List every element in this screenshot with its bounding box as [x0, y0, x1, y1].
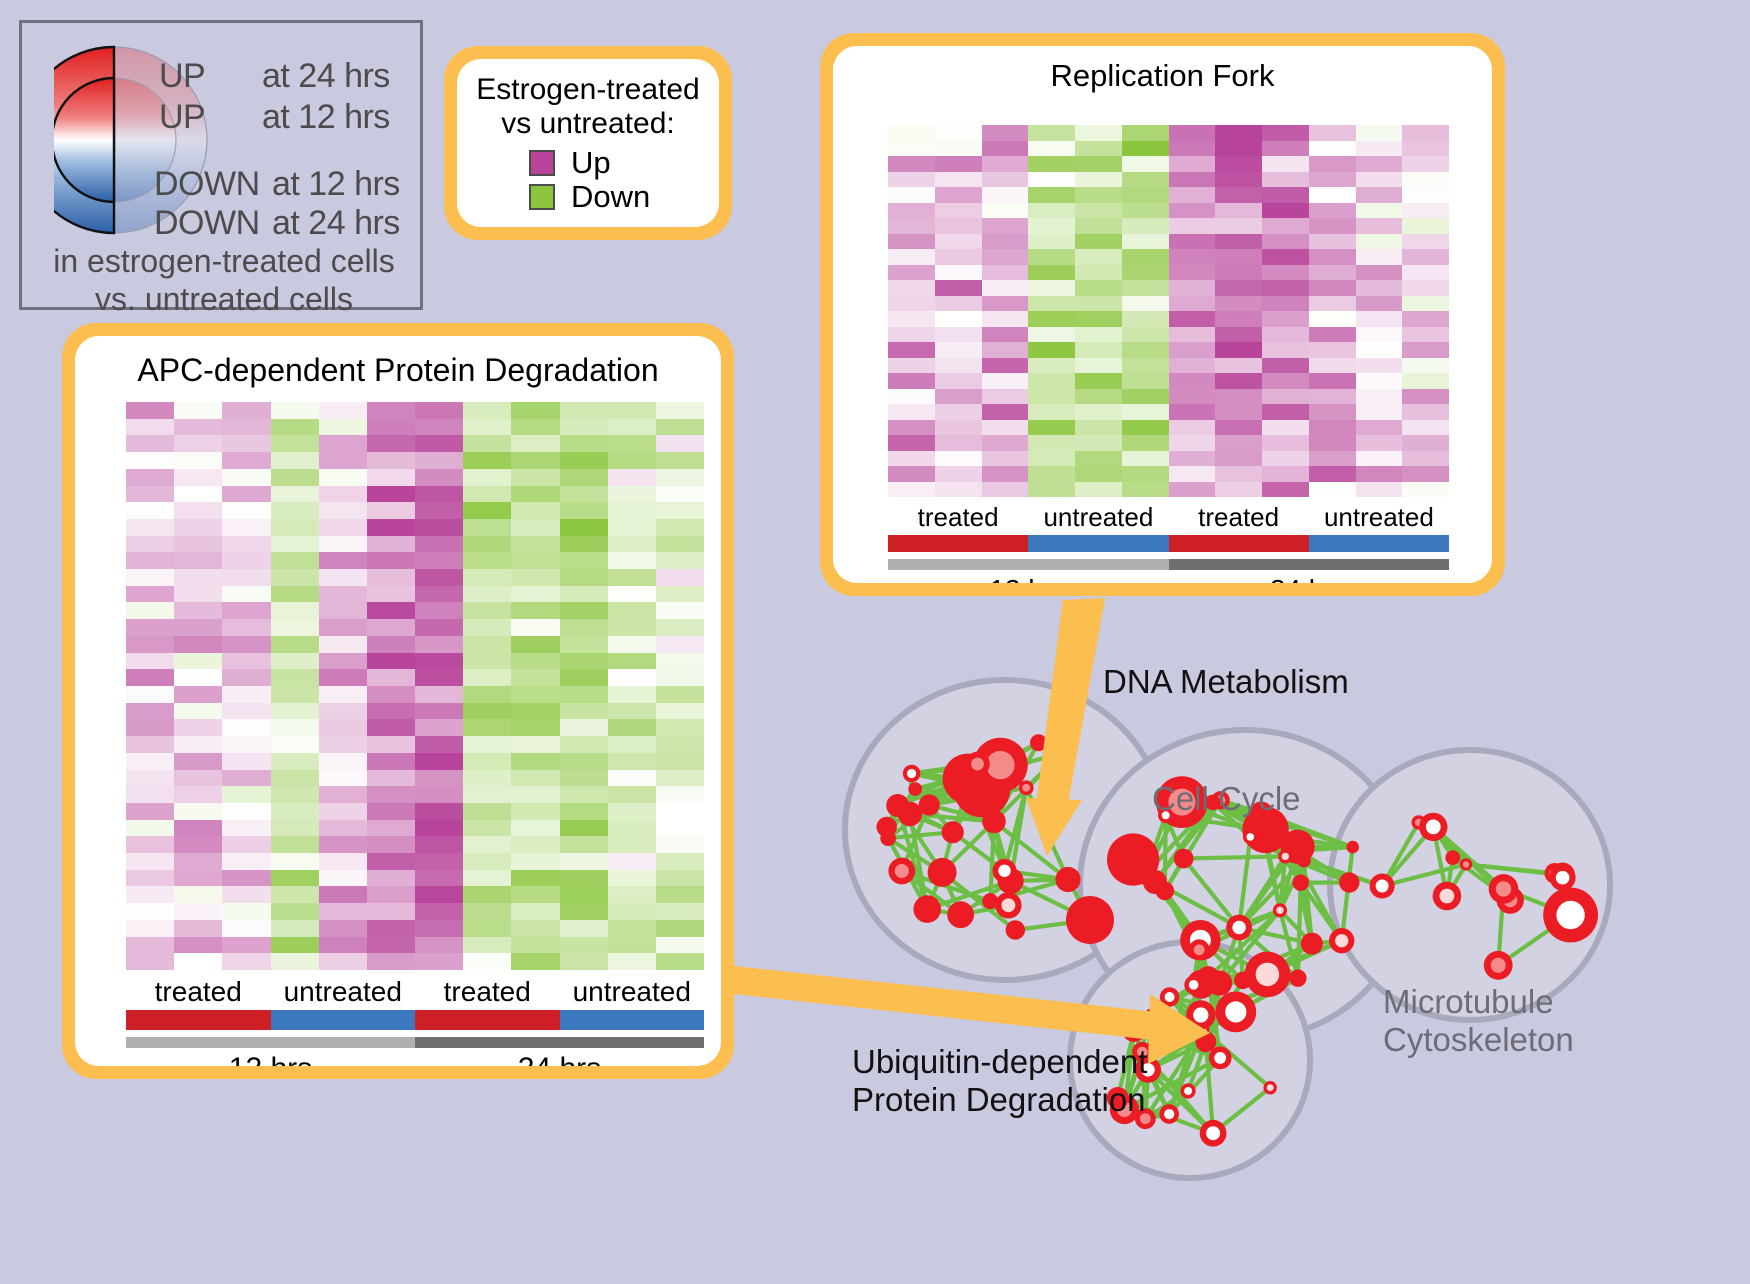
- heatmap-cell: [1356, 389, 1403, 405]
- heatmap-cell: [511, 736, 559, 753]
- heatmap-cell: [1028, 466, 1075, 482]
- heatmap-cell: [271, 853, 319, 870]
- heatmap-cell: [1028, 141, 1075, 157]
- heatmap-cell: [560, 937, 608, 954]
- heatmap-cell: [560, 653, 608, 670]
- heatmap-cell: [511, 486, 559, 503]
- heatmap-cell: [126, 569, 174, 586]
- network-node: [1289, 970, 1306, 987]
- heatmap-cell: [1075, 125, 1122, 141]
- heatmap-cell: [174, 569, 222, 586]
- heatmap-cell: [1122, 234, 1169, 250]
- heatmap-cell: [935, 172, 982, 188]
- heatmap-cell: [463, 569, 511, 586]
- heatmap-cell: [222, 552, 270, 569]
- heatmap-cell: [463, 903, 511, 920]
- heatmap-cell: [319, 469, 367, 486]
- network-node: [1339, 872, 1359, 892]
- heatmap-cell: [608, 937, 656, 954]
- heatmap-cell: [271, 953, 319, 970]
- heatmap-cell: [126, 586, 174, 603]
- heatmap-cell: [415, 536, 463, 553]
- heatmap-cell: [271, 619, 319, 636]
- heatmap-cell: [982, 234, 1029, 250]
- heatmap-cell: [126, 486, 174, 503]
- heatmap-cell: [174, 419, 222, 436]
- heatmap-cell: [1262, 156, 1309, 172]
- heatmap-cell: [415, 452, 463, 469]
- heatmap-cell: [1028, 265, 1075, 281]
- heatmap-cell: [1169, 280, 1216, 296]
- heatmap-cell: [560, 903, 608, 920]
- heatmap-cell: [1309, 156, 1356, 172]
- colorwheel-row-0-state: UP: [159, 57, 205, 96]
- heatmap-cell: [1169, 327, 1216, 343]
- heatmap-cell: [126, 619, 174, 636]
- heatmap-cell: [174, 719, 222, 736]
- heatmap-cell: [888, 482, 935, 498]
- network-node: [1207, 971, 1232, 996]
- rf-time-bars: [888, 559, 1449, 570]
- heatmap-cell: [1402, 404, 1449, 420]
- heatmap-cell: [1402, 296, 1449, 312]
- network-node-core: [1189, 980, 1199, 990]
- heatmap-cell: [1215, 451, 1262, 467]
- legend-item-down-label: Down: [571, 181, 650, 212]
- heatmap-cell: [319, 602, 367, 619]
- heatmap-cell: [656, 486, 704, 503]
- heatmap-cell: [126, 920, 174, 937]
- heatmap-cell: [126, 937, 174, 954]
- heatmap-cell: [174, 953, 222, 970]
- heatmap-cell: [935, 420, 982, 436]
- heatmap-cell: [174, 602, 222, 619]
- heatmap-cell: [1075, 466, 1122, 482]
- heatmap-cell: [319, 753, 367, 770]
- heatmap-cell: [1356, 234, 1403, 250]
- network-node-core: [1376, 880, 1389, 893]
- heatmap-cell: [1215, 187, 1262, 203]
- network-node-core: [1282, 853, 1289, 860]
- heatmap-cell: [656, 736, 704, 753]
- heatmap-cell: [560, 686, 608, 703]
- heatmap-cell: [222, 920, 270, 937]
- heatmap-cell: [463, 686, 511, 703]
- heatmap-cell: [174, 886, 222, 903]
- heatmap-cell: [935, 389, 982, 405]
- heatmap-cell: [1356, 358, 1403, 374]
- heatmap-cell: [888, 342, 935, 358]
- heatmap-cell: [174, 502, 222, 519]
- heatmap-cell: [1169, 451, 1216, 467]
- heatmap-cell: [1169, 125, 1216, 141]
- heatmap-cell: [1169, 389, 1216, 405]
- heatmap-cell: [415, 686, 463, 703]
- heatmap-cell: [271, 937, 319, 954]
- heatmap-cell: [367, 937, 415, 954]
- heatmap-cell: [415, 920, 463, 937]
- heatmap-cell: [1215, 265, 1262, 281]
- heatmap-cell: [367, 803, 415, 820]
- heatmap-cell: [319, 953, 367, 970]
- heatmap-cell: [511, 602, 559, 619]
- heatmap-cell: [608, 653, 656, 670]
- heatmap-cell: [367, 753, 415, 770]
- heatmap-cell: [656, 469, 704, 486]
- apc-time-label-12: 12 hrs: [126, 1052, 415, 1066]
- colorwheel-row-1-time: at 12 hrs: [262, 98, 390, 137]
- heatmap-cell: [1028, 327, 1075, 343]
- heatmap-cell: [656, 920, 704, 937]
- heatmap-cell: [1402, 435, 1449, 451]
- heatmap-cell: [608, 786, 656, 803]
- heatmap-cell: [1309, 311, 1356, 327]
- heatmap-cell: [1309, 203, 1356, 219]
- heatmap-cell: [888, 280, 935, 296]
- heatmap-cell: [174, 586, 222, 603]
- heatmap-cell: [1356, 218, 1403, 234]
- rf-timebar-12: [888, 559, 1169, 570]
- heatmap-cell: [271, 419, 319, 436]
- heatmap-cell: [415, 836, 463, 853]
- heatmap-cell: [560, 703, 608, 720]
- heatmap-cell: [608, 536, 656, 553]
- heatmap-cell: [982, 311, 1029, 327]
- heatmap-cell: [511, 402, 559, 419]
- heatmap-cell: [1122, 156, 1169, 172]
- heatmap-cell: [560, 820, 608, 837]
- heatmap-cell: [319, 803, 367, 820]
- heatmap-cell: [222, 469, 270, 486]
- heatmap-cell: [126, 519, 174, 536]
- heatmap-cell: [608, 469, 656, 486]
- heatmap-cell: [1215, 342, 1262, 358]
- heatmap-cell: [126, 753, 174, 770]
- heatmap-cell: [608, 552, 656, 569]
- heatmap-cell: [1169, 234, 1216, 250]
- colorwheel-note-line2: vs. untreated cells: [22, 281, 426, 319]
- heatmap-cell: [415, 770, 463, 787]
- heatmap-cell: [271, 686, 319, 703]
- heatmap-cell: [560, 719, 608, 736]
- heatmap-cell: [463, 786, 511, 803]
- heatmap-cell: [271, 903, 319, 920]
- heatmap-cell: [415, 569, 463, 586]
- heatmap-cell: [608, 770, 656, 787]
- heatmap-cell: [271, 469, 319, 486]
- rf-group-label-3: untreated: [1309, 502, 1449, 533]
- heatmap-cell: [1309, 327, 1356, 343]
- heatmap-cell: [319, 719, 367, 736]
- heatmap-cell: [511, 786, 559, 803]
- heatmap-cell: [1356, 435, 1403, 451]
- heatmap-cell: [656, 803, 704, 820]
- network-node: [1346, 841, 1359, 854]
- heatmap-cell: [174, 836, 222, 853]
- heatmap-cell: [319, 870, 367, 887]
- heatmap-cell: [367, 619, 415, 636]
- heatmap-cell: [463, 619, 511, 636]
- heatmap-cell: [222, 402, 270, 419]
- heatmap-cell: [271, 736, 319, 753]
- heatmap-cell: [1122, 280, 1169, 296]
- apc-heatmap: [126, 402, 704, 970]
- apc-timebar-12: [126, 1037, 415, 1048]
- heatmap-cell: [1356, 249, 1403, 265]
- heatmap-cell: [415, 419, 463, 436]
- heatmap-cell: [1169, 172, 1216, 188]
- network-node-core: [1496, 881, 1511, 896]
- legend-item-down: Down: [529, 181, 709, 212]
- heatmap-cell: [656, 853, 704, 870]
- heatmap-cell: [415, 619, 463, 636]
- heatmap-cell: [888, 389, 935, 405]
- heatmap-cell: [1262, 218, 1309, 234]
- heatmap-cell: [608, 953, 656, 970]
- network-node: [1055, 746, 1069, 760]
- heatmap-cell: [511, 719, 559, 736]
- heatmap-cell: [1262, 203, 1309, 219]
- heatmap-cell: [1075, 156, 1122, 172]
- heatmap-cell: [271, 719, 319, 736]
- heatmap-cell: [608, 602, 656, 619]
- heatmap-cell: [656, 770, 704, 787]
- heatmap-cell: [1215, 311, 1262, 327]
- heatmap-cell: [608, 903, 656, 920]
- heatmap-cell: [367, 519, 415, 536]
- heatmap-cell: [982, 249, 1029, 265]
- heatmap-cell: [1262, 280, 1309, 296]
- heatmap-cell: [1215, 172, 1262, 188]
- heatmap-cell: [1075, 234, 1122, 250]
- replication-fork-title: Replication Fork: [833, 58, 1492, 94]
- cluster-label-ub-line2: Protein Degradation: [852, 1081, 1147, 1119]
- heatmap-cell: [367, 836, 415, 853]
- network-node-core: [1247, 833, 1255, 841]
- heatmap-cell: [222, 486, 270, 503]
- heatmap-cell: [463, 820, 511, 837]
- heatmap-cell: [126, 452, 174, 469]
- heatmap-cell: [222, 736, 270, 753]
- heatmap-cell: [656, 536, 704, 553]
- heatmap-cell: [1028, 187, 1075, 203]
- heatmap-cell: [511, 686, 559, 703]
- heatmap-cell: [1122, 327, 1169, 343]
- heatmap-cell: [1075, 141, 1122, 157]
- heatmap-cell: [1402, 234, 1449, 250]
- heatmap-cell: [463, 486, 511, 503]
- heatmap-cell: [608, 569, 656, 586]
- heatmap-cell: [1402, 141, 1449, 157]
- heatmap-cell: [1262, 125, 1309, 141]
- heatmap-cell: [463, 803, 511, 820]
- heatmap-cell: [982, 172, 1029, 188]
- heatmap-cell: [888, 203, 935, 219]
- heatmap-cell: [656, 953, 704, 970]
- apc-time-bars: [126, 1037, 704, 1048]
- rf-bar-treated-12: [888, 535, 1028, 552]
- heatmap-cell: [656, 886, 704, 903]
- heatmap-cell: [1169, 435, 1216, 451]
- heatmap-cell: [1309, 234, 1356, 250]
- heatmap-cell: [271, 486, 319, 503]
- heatmap-cell: [1169, 311, 1216, 327]
- heatmap-cell: [271, 602, 319, 619]
- heatmap-cell: [126, 719, 174, 736]
- heatmap-cell: [1169, 358, 1216, 374]
- heatmap-cell: [463, 469, 511, 486]
- heatmap-cell: [367, 920, 415, 937]
- heatmap-cell: [1169, 373, 1216, 389]
- heatmap-cell: [656, 602, 704, 619]
- heatmap-cell: [1402, 311, 1449, 327]
- heatmap-cell: [1169, 187, 1216, 203]
- heatmap-cell: [982, 466, 1029, 482]
- heatmap-cell: [1402, 327, 1449, 343]
- heatmap-cell: [560, 569, 608, 586]
- heatmap-cell: [463, 669, 511, 686]
- heatmap-cell: [271, 836, 319, 853]
- heatmap-cell: [511, 636, 559, 653]
- heatmap-cell: [463, 937, 511, 954]
- heatmap-cell: [1075, 435, 1122, 451]
- heatmap-cell: [608, 619, 656, 636]
- heatmap-cell: [1262, 420, 1309, 436]
- heatmap-cell: [1028, 218, 1075, 234]
- heatmap-cell: [367, 502, 415, 519]
- network-node-core: [1267, 1084, 1274, 1091]
- heatmap-cell: [222, 903, 270, 920]
- heatmap-cell: [271, 870, 319, 887]
- colorwheel-row-0-time: at 24 hrs: [262, 57, 390, 96]
- heatmap-cell: [126, 469, 174, 486]
- heatmap-cell: [656, 552, 704, 569]
- heatmap-cell: [463, 736, 511, 753]
- replication-fork-panel: Replication Fork treated untreated treat…: [820, 33, 1505, 596]
- heatmap-cell: [463, 836, 511, 853]
- heatmap-cell: [935, 265, 982, 281]
- heatmap-cell: [222, 569, 270, 586]
- heatmap-cell: [560, 636, 608, 653]
- heatmap-cell: [1309, 373, 1356, 389]
- heatmap-cell: [511, 853, 559, 870]
- heatmap-cell: [367, 419, 415, 436]
- heatmap-cell: [656, 686, 704, 703]
- heatmap-cell: [1356, 203, 1403, 219]
- network-node-core: [1194, 944, 1205, 955]
- network-node: [913, 895, 941, 923]
- network-node: [947, 901, 974, 928]
- heatmap-cell: [222, 953, 270, 970]
- heatmap-cell: [463, 536, 511, 553]
- heatmap-cell: [367, 786, 415, 803]
- heatmap-cell: [511, 502, 559, 519]
- heatmap-cell: [174, 770, 222, 787]
- heatmap-cell: [319, 669, 367, 686]
- heatmap-cell: [415, 870, 463, 887]
- heatmap-cell: [174, 820, 222, 837]
- heatmap-cell: [319, 903, 367, 920]
- heatmap-cell: [367, 686, 415, 703]
- heatmap-cell: [1122, 482, 1169, 498]
- updown-legend-title: Estrogen-treated vs untreated:: [467, 73, 709, 141]
- heatmap-cell: [1262, 234, 1309, 250]
- heatmap-cell: [608, 836, 656, 853]
- heatmap-cell: [1262, 389, 1309, 405]
- heatmap-cell: [511, 419, 559, 436]
- updown-legend-inner: Estrogen-treated vs untreated: Up Down: [457, 59, 719, 227]
- heatmap-cell: [1075, 327, 1122, 343]
- heatmap-cell: [560, 953, 608, 970]
- heatmap-cell: [1402, 125, 1449, 141]
- updown-legend-title-line2: vs untreated:: [467, 107, 709, 141]
- heatmap-cell: [1356, 125, 1403, 141]
- heatmap-cell: [560, 870, 608, 887]
- heatmap-cell: [319, 402, 367, 419]
- heatmap-cell: [1356, 141, 1403, 157]
- apc-bar-untreated-24: [560, 1010, 705, 1030]
- heatmap-cell: [1028, 389, 1075, 405]
- heatmap-cell: [656, 519, 704, 536]
- heatmap-cell: [367, 469, 415, 486]
- rf-group-label-1: untreated: [1028, 502, 1168, 533]
- heatmap-cell: [1075, 296, 1122, 312]
- heatmap-cell: [126, 903, 174, 920]
- heatmap-cell: [174, 486, 222, 503]
- heatmap-cell: [463, 452, 511, 469]
- heatmap-cell: [1028, 435, 1075, 451]
- heatmap-cell: [463, 853, 511, 870]
- heatmap-cell: [463, 703, 511, 720]
- heatmap-cell: [1215, 141, 1262, 157]
- network-node-core: [1440, 889, 1455, 904]
- heatmap-cell: [126, 853, 174, 870]
- up-swatch-icon: [529, 150, 555, 176]
- heatmap-cell: [560, 402, 608, 419]
- apc-panel: APC-dependent Protein Degradation treate…: [62, 323, 734, 1079]
- pathway-network-graph: [790, 620, 1750, 1279]
- heatmap-cell: [126, 536, 174, 553]
- heatmap-cell: [1262, 187, 1309, 203]
- heatmap-cell: [222, 435, 270, 452]
- heatmap-cell: [608, 736, 656, 753]
- heatmap-cell: [367, 820, 415, 837]
- heatmap-cell: [656, 452, 704, 469]
- heatmap-cell: [1356, 373, 1403, 389]
- heatmap-cell: [1402, 373, 1449, 389]
- heatmap-cell: [415, 519, 463, 536]
- heatmap-cell: [222, 836, 270, 853]
- heatmap-cell: [319, 552, 367, 569]
- heatmap-cell: [463, 402, 511, 419]
- heatmap-cell: [367, 703, 415, 720]
- network-node-core: [1232, 921, 1245, 934]
- heatmap-cell: [888, 327, 935, 343]
- rf-time-labels: 12 hrs 24 hrs: [888, 574, 1449, 583]
- rf-timebar-24: [1169, 559, 1450, 570]
- heatmap-cell: [888, 187, 935, 203]
- heatmap-cell: [126, 435, 174, 452]
- heatmap-cell: [271, 552, 319, 569]
- heatmap-cell: [174, 803, 222, 820]
- network-node-core: [895, 864, 909, 878]
- heatmap-cell: [608, 886, 656, 903]
- heatmap-cell: [271, 519, 319, 536]
- heatmap-cell: [560, 486, 608, 503]
- network-node-core: [1225, 1001, 1246, 1022]
- heatmap-cell: [271, 435, 319, 452]
- heatmap-cell: [367, 636, 415, 653]
